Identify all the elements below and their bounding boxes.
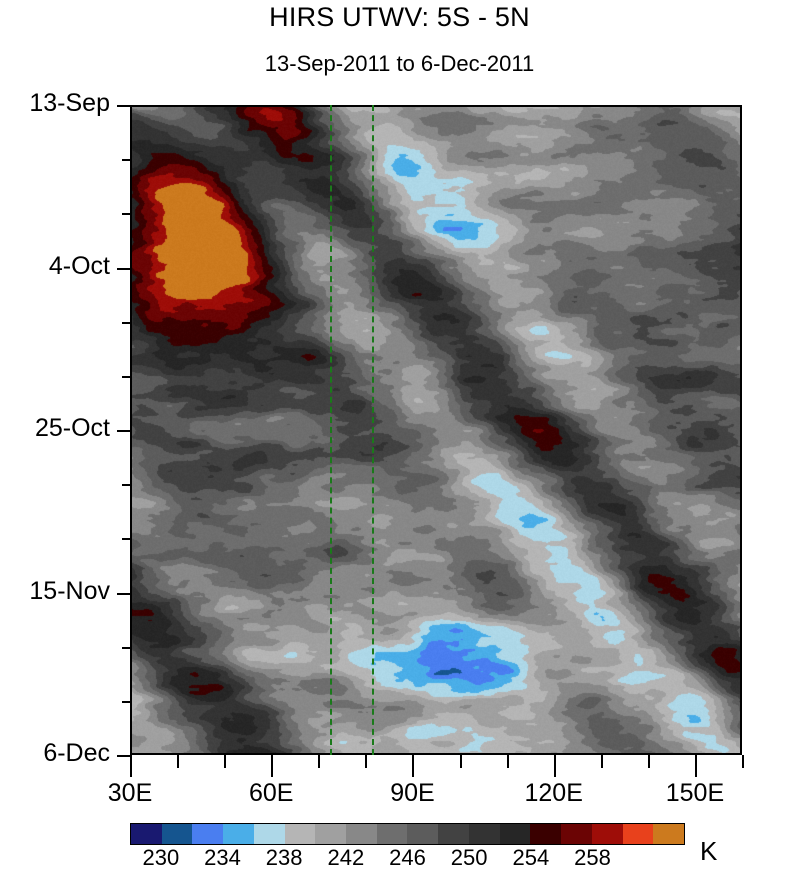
x-axis-minor-tick bbox=[224, 755, 226, 768]
y-axis-major-tick bbox=[117, 268, 130, 270]
y-axis-minor-tick bbox=[122, 213, 130, 215]
colorbar-swatch bbox=[223, 824, 254, 844]
colorbar-unit-label: K bbox=[700, 836, 717, 867]
x-axis-major-tick bbox=[412, 755, 414, 777]
x-axis-tick-label: 30E bbox=[108, 779, 152, 808]
x-axis-minor-tick bbox=[177, 755, 179, 768]
x-axis-major-tick bbox=[130, 755, 132, 777]
colorbar-swatch bbox=[592, 824, 623, 844]
x-axis: 30E60E90E120E150E bbox=[130, 755, 742, 815]
y-axis-major-tick bbox=[117, 593, 130, 595]
x-axis-major-tick bbox=[271, 755, 273, 777]
x-axis-minor-tick bbox=[601, 755, 603, 768]
x-axis-minor-tick bbox=[742, 755, 744, 768]
colorbar-swatch bbox=[623, 824, 654, 844]
annotation-vlines bbox=[130, 105, 742, 755]
vertical-reference-line bbox=[330, 105, 332, 755]
y-axis-major-tick bbox=[117, 430, 130, 432]
y-axis: 13-Sep4-Oct25-Oct15-Nov6-Dec bbox=[0, 105, 130, 755]
colorbar-tick-label: 234 bbox=[204, 845, 241, 871]
colorbar-swatch bbox=[192, 824, 223, 844]
x-axis-tick-label: 120E bbox=[524, 779, 582, 808]
y-axis-minor-tick bbox=[122, 376, 130, 378]
page-subtitle: 13-Sep-2011 to 6-Dec-2011 bbox=[0, 51, 799, 77]
colorbar-swatch bbox=[561, 824, 592, 844]
colorbar-swatch bbox=[407, 824, 438, 844]
x-axis-minor-tick bbox=[648, 755, 650, 768]
y-axis-minor-tick bbox=[122, 647, 130, 649]
colorbar-tick-label: 246 bbox=[389, 845, 426, 871]
colorbar bbox=[130, 823, 685, 845]
colorbar-tick-label: 242 bbox=[327, 845, 364, 871]
y-axis-minor-tick bbox=[122, 484, 130, 486]
y-axis-tick-label: 4-Oct bbox=[49, 252, 110, 281]
colorbar-swatch bbox=[254, 824, 285, 844]
y-axis-tick-label: 13-Sep bbox=[29, 89, 110, 118]
y-axis-tick-label: 15-Nov bbox=[29, 577, 110, 606]
y-axis-minor-tick bbox=[122, 159, 130, 161]
colorbar-swatch bbox=[500, 824, 531, 844]
x-axis-major-tick bbox=[554, 755, 556, 777]
y-axis-major-tick bbox=[117, 105, 130, 107]
colorbar-swatch bbox=[653, 824, 684, 844]
y-axis-minor-tick bbox=[122, 538, 130, 540]
x-axis-minor-tick bbox=[507, 755, 509, 768]
y-axis-tick-label: 6-Dec bbox=[43, 739, 110, 768]
x-axis-major-tick bbox=[695, 755, 697, 777]
y-axis-minor-tick bbox=[122, 322, 130, 324]
colorbar-swatch bbox=[315, 824, 346, 844]
x-axis-minor-tick bbox=[318, 755, 320, 768]
colorbar-swatch bbox=[530, 824, 561, 844]
colorbar-swatch bbox=[162, 824, 193, 844]
x-axis-tick-label: 150E bbox=[666, 779, 724, 808]
colorbar-swatch bbox=[346, 824, 377, 844]
colorbar-tick-label: 254 bbox=[512, 845, 549, 871]
x-axis-tick-label: 60E bbox=[249, 779, 293, 808]
colorbar-tick-label: 250 bbox=[451, 845, 488, 871]
y-axis-minor-tick bbox=[122, 701, 130, 703]
y-axis-major-tick bbox=[117, 755, 130, 757]
colorbar-swatch bbox=[285, 824, 316, 844]
y-axis-tick-label: 25-Oct bbox=[35, 414, 110, 443]
vertical-reference-line bbox=[372, 105, 374, 755]
colorbar-tick-label: 238 bbox=[266, 845, 303, 871]
colorbar-swatch bbox=[131, 824, 162, 844]
x-axis-minor-tick bbox=[460, 755, 462, 768]
colorbar-tick-label: 230 bbox=[142, 845, 179, 871]
colorbar-swatch bbox=[377, 824, 408, 844]
page-title: HIRS UTWV: 5S - 5N bbox=[0, 2, 799, 33]
x-axis-minor-tick bbox=[365, 755, 367, 768]
colorbar-swatch bbox=[469, 824, 500, 844]
colorbar-swatch bbox=[438, 824, 469, 844]
x-axis-tick-label: 90E bbox=[390, 779, 434, 808]
colorbar-tick-label: 258 bbox=[574, 845, 611, 871]
